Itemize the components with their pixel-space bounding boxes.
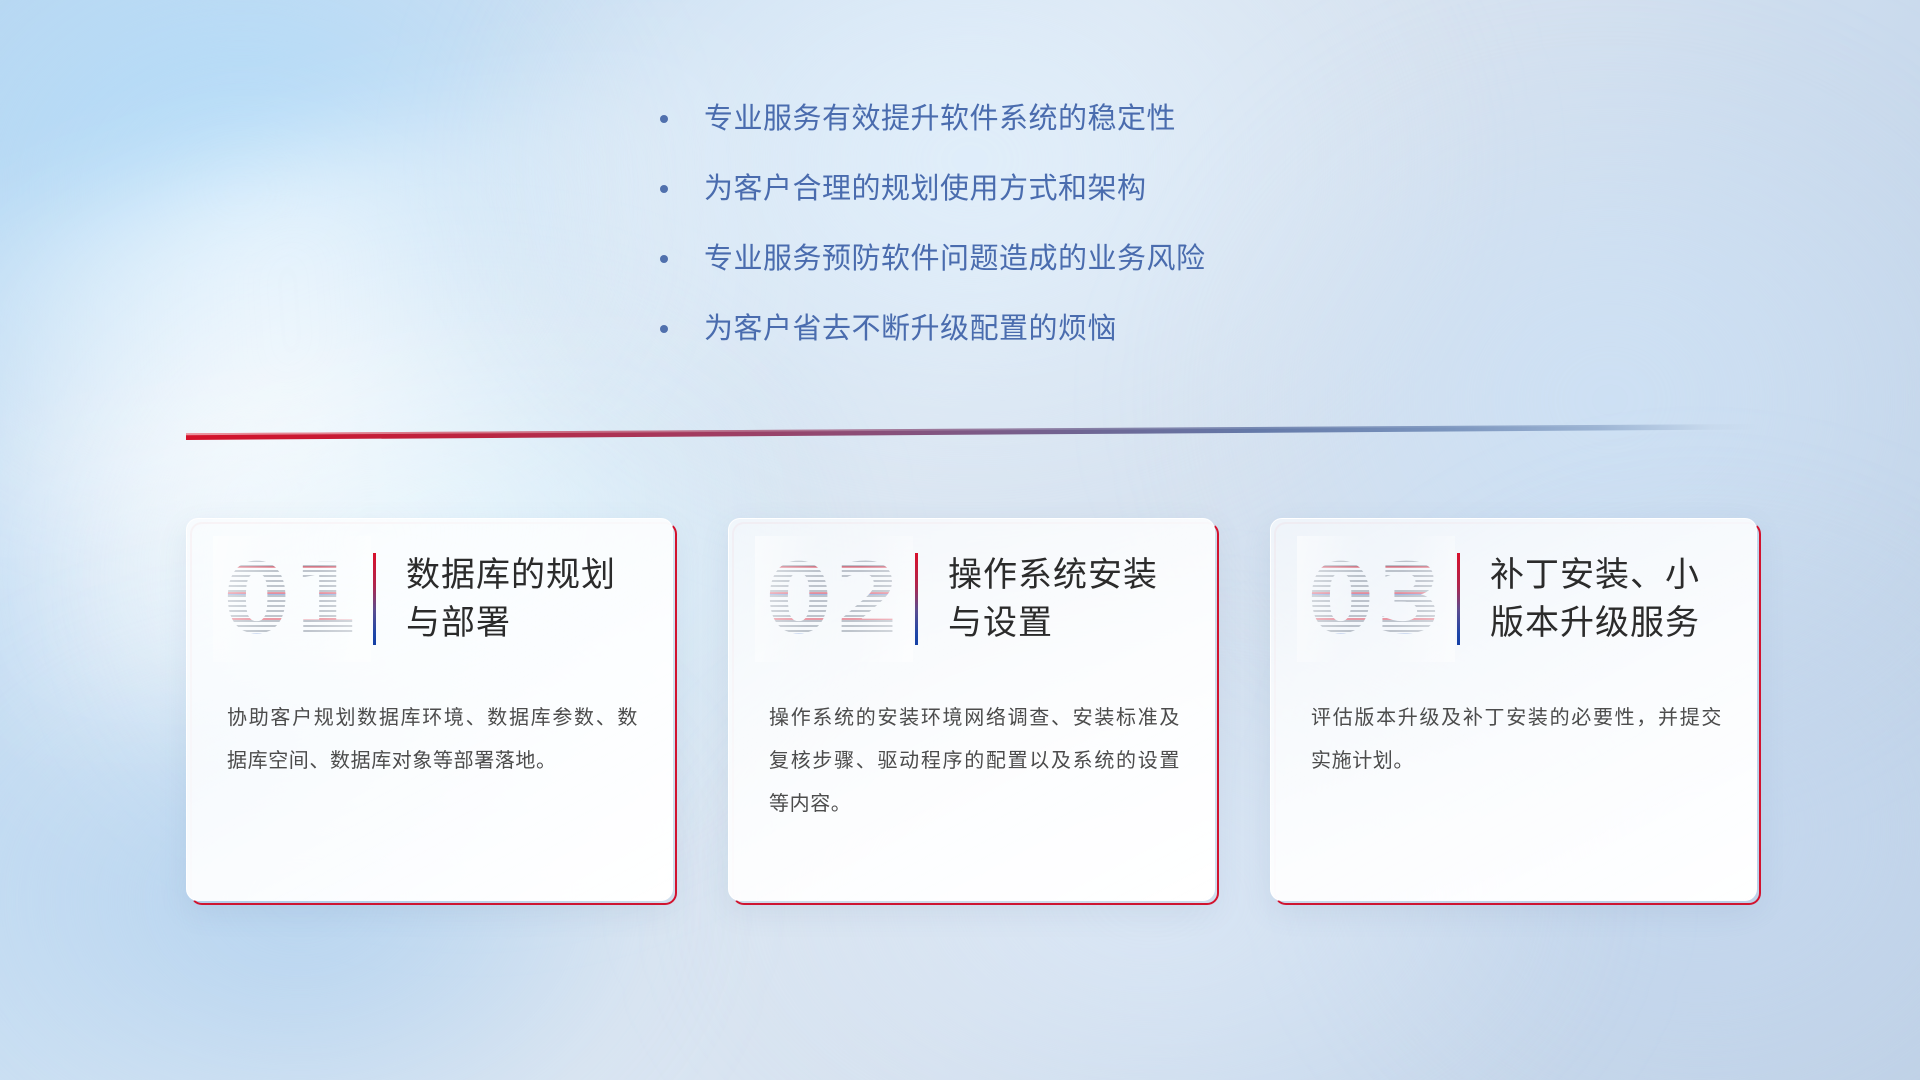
- card-number-graphic: 01 01: [217, 540, 367, 658]
- card-title: 操作系统安装 与设置: [948, 551, 1158, 647]
- bullet-dot-icon: [660, 115, 668, 123]
- card-body-text: 协助客户规划数据库环境、数据库参数、数据库空间、数据库对象等部署落地。: [227, 697, 638, 783]
- card-title-divider-icon: [373, 553, 376, 645]
- bullet-text: 专业服务预防软件问题造成的业务风险: [704, 236, 1206, 282]
- card-surface: 02 02 操作系统安装 与设置 操作系统的安装环境网络调查、安装标准及复核步骤…: [728, 518, 1215, 901]
- card-header: 02 02 操作系统安装 与设置: [729, 519, 1214, 679]
- benefits-bullet-list: 专业服务有效提升软件系统的稳定性 为客户合理的规划使用方式和架构 专业服务预防软…: [660, 96, 1206, 352]
- bullet-dot-icon: [660, 255, 668, 263]
- bullet-text: 专业服务有效提升软件系统的稳定性: [704, 96, 1176, 142]
- bullet-dot-icon: [660, 325, 668, 333]
- bullet-text: 为客户省去不断升级配置的烦恼: [704, 306, 1117, 352]
- service-card-list: 01 01 数据库的规划 与部署 协助客户规划数据库环境、数据库参数、数据库空间…: [186, 518, 1757, 901]
- card-surface: 01 01 数据库的规划 与部署 协助客户规划数据库环境、数据库参数、数据库空间…: [186, 518, 673, 901]
- card-number-graphic: 03 03: [1301, 540, 1451, 658]
- card-title-divider-icon: [1457, 553, 1460, 645]
- service-card[interactable]: 02 02 操作系统安装 与设置 操作系统的安装环境网络调查、安装标准及复核步骤…: [728, 518, 1215, 901]
- list-item: 专业服务有效提升软件系统的稳定性: [660, 96, 1206, 142]
- bullet-dot-icon: [660, 185, 668, 193]
- card-body-text: 操作系统的安装环境网络调查、安装标准及复核步骤、驱动程序的配置以及系统的设置等内…: [769, 697, 1180, 826]
- section-divider: [186, 424, 1758, 440]
- service-card[interactable]: 03 03 补丁安装、小 版本升级服务 评估版本升级及补丁安装的必要性，并提交实…: [1270, 518, 1757, 901]
- bullet-text: 为客户合理的规划使用方式和架构: [704, 166, 1147, 212]
- card-title: 补丁安装、小 版本升级服务: [1490, 551, 1700, 647]
- card-header: 01 01 数据库的规划 与部署: [187, 519, 672, 679]
- list-item: 为客户合理的规划使用方式和架构: [660, 166, 1206, 212]
- card-title-divider-icon: [915, 553, 918, 645]
- card-surface: 03 03 补丁安装、小 版本升级服务 评估版本升级及补丁安装的必要性，并提交实…: [1270, 518, 1757, 901]
- list-item: 为客户省去不断升级配置的烦恼: [660, 306, 1206, 352]
- card-number-tint: 01: [217, 540, 367, 658]
- service-card[interactable]: 01 01 数据库的规划 与部署 协助客户规划数据库环境、数据库参数、数据库空间…: [186, 518, 673, 901]
- card-header: 03 03 补丁安装、小 版本升级服务: [1271, 519, 1756, 679]
- list-item: 专业服务预防软件问题造成的业务风险: [660, 236, 1206, 282]
- card-number-tint: 03: [1301, 540, 1451, 658]
- card-body-text: 评估版本升级及补丁安装的必要性，并提交实施计划。: [1311, 697, 1722, 783]
- card-number-graphic: 02 02: [759, 540, 909, 658]
- card-title: 数据库的规划 与部署: [406, 551, 616, 647]
- card-number-tint: 02: [759, 540, 909, 658]
